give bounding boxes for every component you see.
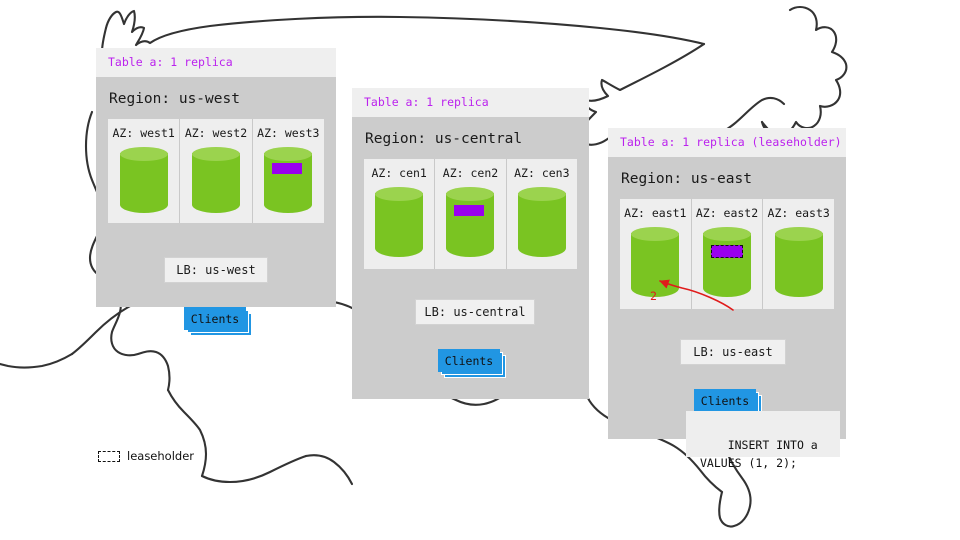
- dashed-rectangle-icon: [98, 451, 120, 462]
- sql-statement-box: INSERT INTO a VALUES (1, 2);: [686, 411, 840, 457]
- load-balancer-us-east[interactable]: LB: us-east: [680, 339, 786, 365]
- az-label-east3: AZ: east3: [763, 206, 834, 220]
- db-node-east3: [775, 227, 823, 297]
- clients-label-us-central: Clients: [445, 354, 493, 368]
- az-container-us-central: AZ: cen1 AZ: cen2 AZ: cen3: [364, 159, 577, 269]
- db-node-cen2: [446, 187, 494, 257]
- az-label-west3: AZ: west3: [253, 126, 324, 140]
- az-cell-east2: AZ: east2: [691, 199, 763, 309]
- az-label-cen3: AZ: cen3: [507, 166, 577, 180]
- db-node-west3: [264, 147, 312, 213]
- load-balancer-us-central[interactable]: LB: us-central: [415, 299, 535, 325]
- az-label-cen1: AZ: cen1: [364, 166, 434, 180]
- clients-label-us-west: Clients: [191, 312, 239, 326]
- az-cell-cen1: AZ: cen1: [364, 159, 434, 269]
- table-replica-label-us-west: Table a: 1 replica: [108, 55, 233, 69]
- table-replica-label-us-central: Table a: 1 replica: [364, 95, 489, 109]
- db-node-east2: [703, 227, 751, 297]
- replica-bar-west3: [272, 163, 302, 174]
- sql-statement-text: INSERT INTO a VALUES (1, 2);: [700, 438, 818, 470]
- cylinder-top: [631, 227, 679, 241]
- cylinder-body: [375, 193, 423, 257]
- cylinder-body: [518, 193, 566, 257]
- az-label-east2: AZ: east2: [692, 206, 763, 220]
- legend-leaseholder: leaseholder: [98, 449, 194, 463]
- panel-body-us-west: Region: us-west AZ: west1 AZ: west2: [96, 77, 336, 307]
- region-panel-us-east: Table a: 1 replica (leaseholder) Region:…: [608, 128, 846, 439]
- db-node-cen1: [375, 187, 423, 257]
- region-title-us-east: Region: us-east: [608, 157, 846, 199]
- load-balancer-us-west[interactable]: LB: us-west: [164, 257, 268, 283]
- cylinder-top: [703, 227, 751, 241]
- panel-header-us-west: Table a: 1 replica: [96, 48, 336, 77]
- diagram-canvas: Table a: 1 replica Region: us-west AZ: w…: [0, 0, 960, 540]
- panel-body-us-east: Region: us-east AZ: east1 AZ: east2: [608, 157, 846, 439]
- cylinder-body: [120, 153, 168, 213]
- panel-header-us-central: Table a: 1 replica: [352, 88, 589, 117]
- leaseholder-bar-east2: [711, 245, 743, 258]
- region-title-us-central: Region: us-central: [352, 117, 589, 159]
- replica-bar-cen2: [454, 205, 484, 216]
- az-label-west2: AZ: west2: [180, 126, 251, 140]
- az-cell-west2: AZ: west2: [179, 119, 251, 223]
- az-label-west1: AZ: west1: [108, 126, 179, 140]
- db-node-west2: [192, 147, 240, 213]
- az-container-us-west: AZ: west1 AZ: west2 AZ: west3: [108, 119, 324, 223]
- load-balancer-label-us-central: LB: us-central: [424, 305, 525, 319]
- az-cell-west1: AZ: west1: [108, 119, 179, 223]
- cylinder-body: [703, 233, 751, 297]
- clients-sheet-front[interactable]: Clients: [184, 307, 246, 330]
- az-cell-cen3: AZ: cen3: [506, 159, 577, 269]
- db-node-east1: [631, 227, 679, 297]
- cylinder-top: [375, 187, 423, 201]
- region-panel-us-west: Table a: 1 replica Region: us-west AZ: w…: [96, 48, 336, 307]
- clients-button-us-west[interactable]: Clients: [184, 307, 252, 333]
- clients-label-us-east: Clients: [701, 394, 749, 408]
- cylinder-top: [192, 147, 240, 161]
- cylinder-top: [120, 147, 168, 161]
- cylinder-body: [446, 193, 494, 257]
- cylinder-body: [631, 233, 679, 297]
- db-node-cen3: [518, 187, 566, 257]
- az-cell-east3: AZ: east3: [762, 199, 834, 309]
- az-label-east1: AZ: east1: [620, 206, 691, 220]
- clients-button-us-central[interactable]: Clients: [438, 349, 506, 375]
- cylinder-body: [264, 153, 312, 213]
- cylinder-top: [775, 227, 823, 241]
- az-label-cen2: AZ: cen2: [435, 166, 505, 180]
- flow-step-label-2: 2: [650, 289, 657, 303]
- cylinder-top: [518, 187, 566, 201]
- clients-sheet-front[interactable]: Clients: [694, 389, 756, 412]
- cylinder-body: [192, 153, 240, 213]
- cylinder-top: [264, 147, 312, 161]
- cylinder-body: [775, 233, 823, 297]
- panel-body-us-central: Region: us-central AZ: cen1 AZ: cen2: [352, 117, 589, 399]
- db-node-west1: [120, 147, 168, 213]
- panel-header-us-east: Table a: 1 replica (leaseholder): [608, 128, 846, 157]
- az-cell-west3: AZ: west3: [252, 119, 324, 223]
- az-cell-cen2: AZ: cen2: [434, 159, 505, 269]
- load-balancer-label-us-west: LB: us-west: [176, 263, 255, 277]
- legend-label: leaseholder: [127, 449, 194, 463]
- region-title-us-west: Region: us-west: [96, 77, 336, 119]
- load-balancer-label-us-east: LB: us-east: [693, 345, 772, 359]
- region-panel-us-central: Table a: 1 replica Region: us-central AZ…: [352, 88, 589, 399]
- table-replica-label-us-east: Table a: 1 replica (leaseholder): [620, 135, 842, 149]
- clients-sheet-front[interactable]: Clients: [438, 349, 500, 372]
